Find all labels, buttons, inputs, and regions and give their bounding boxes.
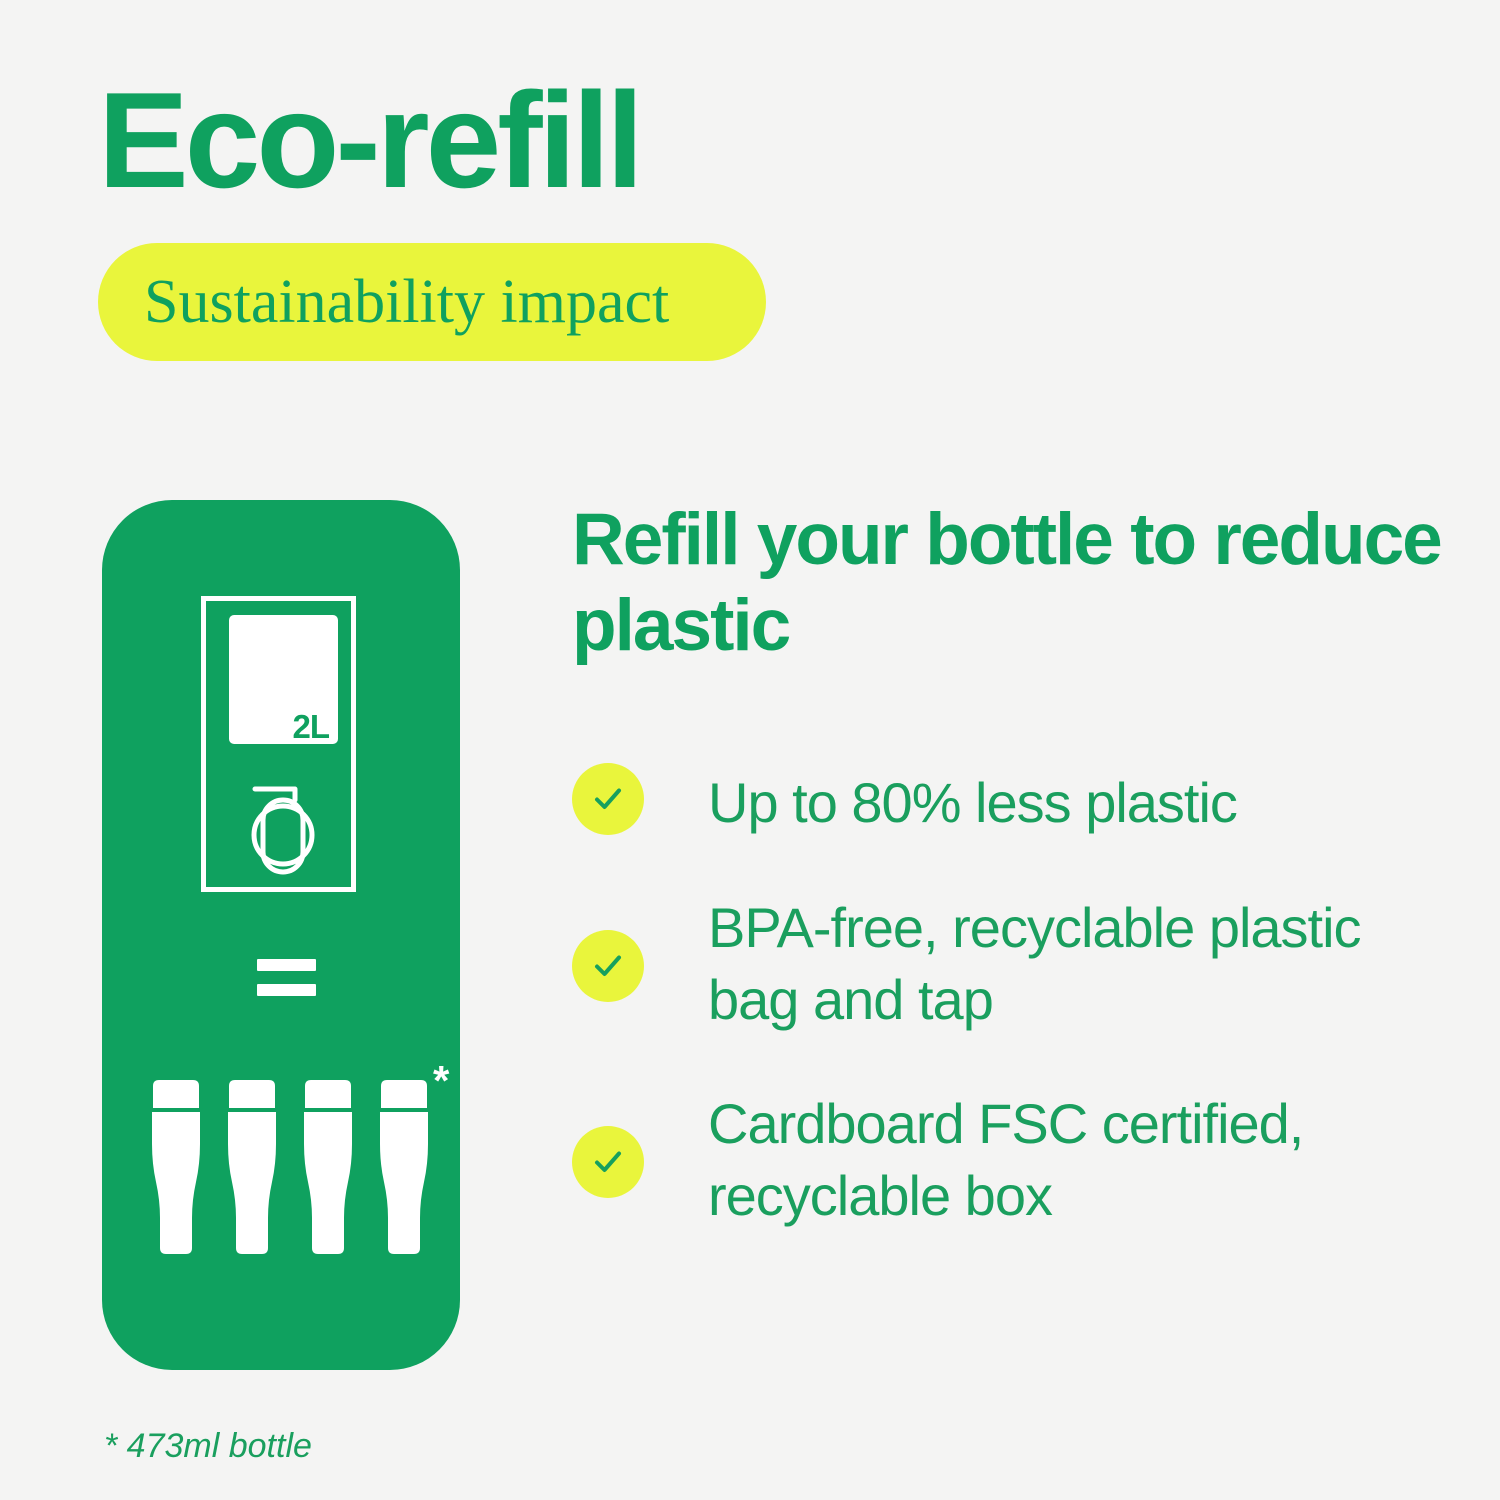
list-item: BPA-free, recyclable plastic bag and tap bbox=[572, 892, 1452, 1035]
tap-spigot-icon bbox=[244, 777, 322, 877]
bottle-icon bbox=[374, 1078, 434, 1258]
eco-refill-infographic: Eco-refill Sustainability impact 2L bbox=[0, 0, 1500, 1500]
section-heading: Refill your bottle to reduce plastic bbox=[572, 497, 1452, 669]
content-column: Refill your bottle to reduce plastic Up … bbox=[572, 497, 1452, 1232]
footnote: * 473ml bottle bbox=[104, 1427, 312, 1466]
sustainability-impact-badge: Sustainability impact bbox=[98, 243, 766, 361]
bottle-row bbox=[146, 1078, 432, 1258]
bottle-icon bbox=[146, 1078, 206, 1258]
feature-label: Cardboard FSC certified, recyclable box bbox=[708, 1088, 1452, 1231]
check-icon bbox=[572, 930, 644, 1002]
feature-label: BPA-free, recyclable plastic bag and tap bbox=[708, 892, 1452, 1035]
equals-icon bbox=[257, 959, 316, 996]
page-title: Eco-refill bbox=[98, 72, 640, 208]
refill-pouch-icon: 2L bbox=[229, 615, 338, 744]
pouch-volume-label: 2L bbox=[292, 710, 329, 743]
feature-list: Up to 80% less plastic BPA-free, recycla… bbox=[572, 763, 1452, 1231]
equals-bar-bottom bbox=[257, 984, 316, 996]
illustration-panel: 2L bbox=[102, 500, 460, 1370]
equals-bar-top bbox=[257, 959, 316, 971]
feature-label: Up to 80% less plastic bbox=[708, 763, 1237, 839]
check-icon bbox=[572, 1126, 644, 1198]
bottle-icon bbox=[298, 1078, 358, 1258]
bottle-icon bbox=[222, 1078, 282, 1258]
list-item: Cardboard FSC certified, recyclable box bbox=[572, 1088, 1452, 1231]
badge-label: Sustainability impact bbox=[144, 267, 669, 338]
check-icon bbox=[572, 763, 644, 835]
list-item: Up to 80% less plastic bbox=[572, 763, 1452, 839]
asterisk-marker: * bbox=[433, 1060, 449, 1102]
carton-outline-icon: 2L bbox=[201, 596, 356, 892]
